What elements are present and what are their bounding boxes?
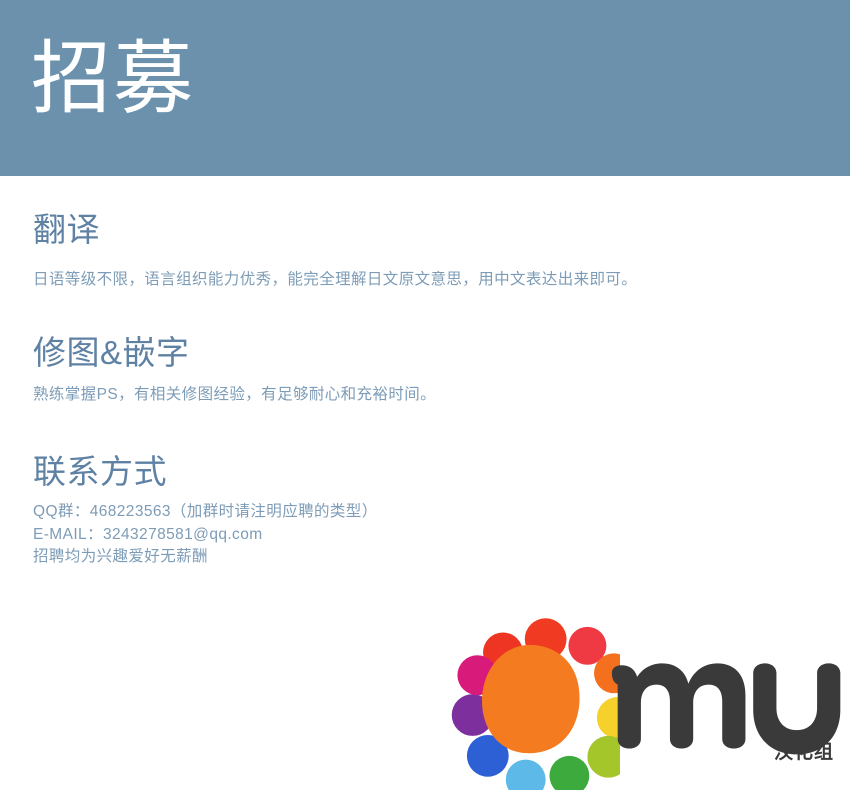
logo-dot-ring-icon [440, 605, 620, 790]
section-translate-title: 翻译 [33, 210, 850, 250]
section-retouch-title: 修图&嵌字 [33, 333, 850, 373]
section-retouch-description: 熟练掌握PS，有相关修图经验，有足够耐心和充裕时间。 [33, 383, 850, 406]
main-content: 翻译 日语等级不限，语言组织能力优秀，能完全理解日文原文意思，用中文表达出来即可… [0, 210, 850, 569]
logo-center-blob-icon [482, 645, 580, 753]
contact-note: 招聘均为兴趣爱好无薪酬 [33, 546, 850, 568]
logo-subtitle: 汉化组 [774, 737, 834, 764]
section-contact-title: 联系方式 [33, 452, 850, 492]
contact-lines: QQ群：468223563（加群时请注明应聘的类型） E-MAIL：324327… [33, 501, 850, 568]
header-banner: 招募 [0, 0, 850, 176]
section-translate: 翻译 日语等级不限，语言组织能力优秀，能完全理解日文原文意思，用中文表达出来即可… [0, 210, 850, 291]
dot-lightblue-bottom [506, 760, 546, 790]
section-retouch: 修图&嵌字 熟练掌握PS，有相关修图经验，有足够耐心和充裕时间。 [0, 333, 850, 407]
page-title: 招募 [31, 36, 195, 122]
group-logo: 汉化组 [440, 605, 850, 795]
section-translate-description: 日语等级不限，语言组织能力优秀，能完全理解日文原文意思，用中文表达出来即可。 [33, 268, 850, 291]
section-contact: 联系方式 QQ群：468223563（加群时请注明应聘的类型） E-MAIL：3… [0, 452, 850, 569]
contact-qq-group: QQ群：468223563（加群时请注明应聘的类型） [33, 501, 850, 523]
contact-email: E-MAIL：3243278581@qq.com [33, 524, 850, 546]
dot-green-bottom [549, 756, 589, 790]
